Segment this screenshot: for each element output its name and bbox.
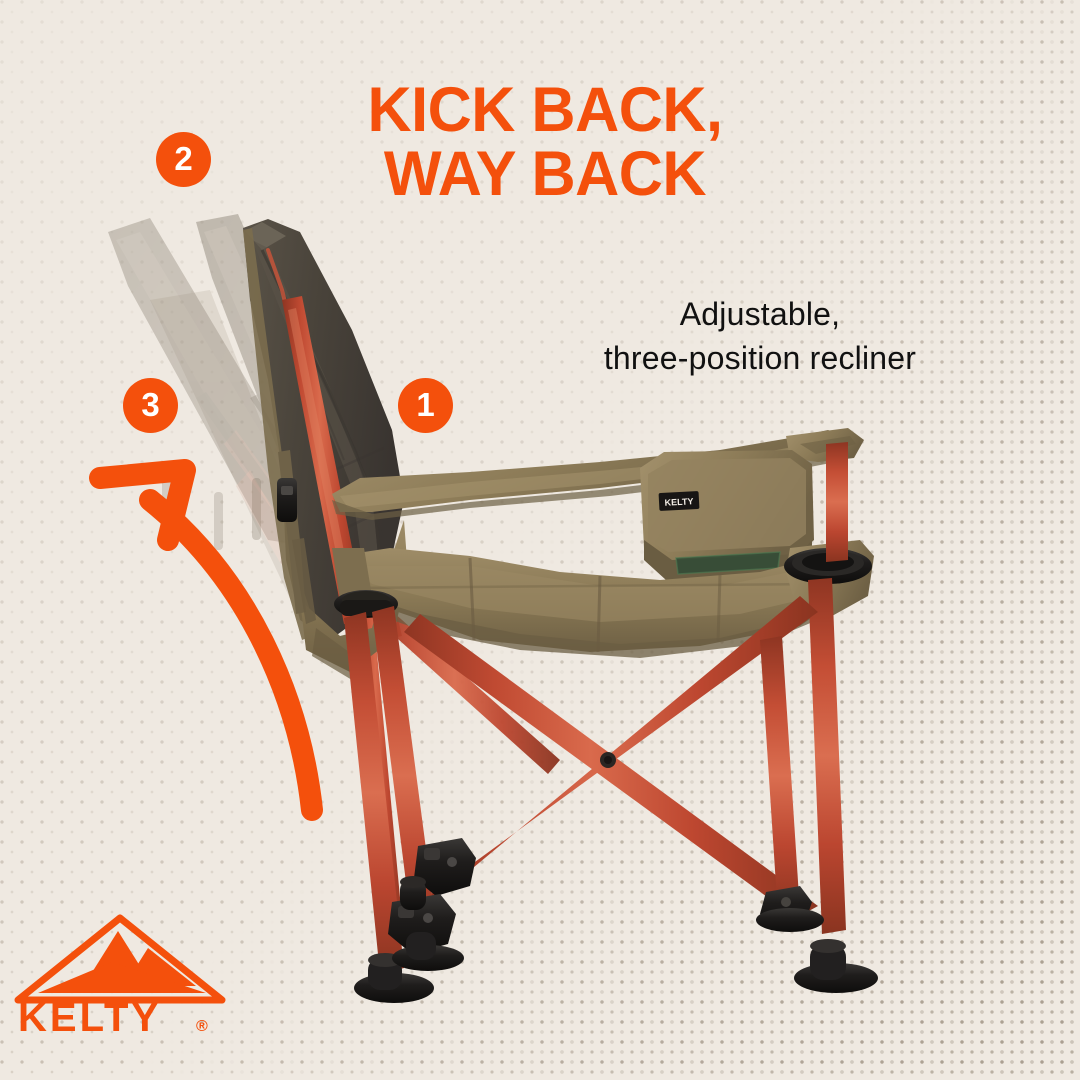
- kelty-registered-mark: ®: [196, 1018, 208, 1035]
- poster-canvas: KELTY: [0, 0, 1080, 1080]
- kelty-wordmark-text: KELTY: [18, 996, 161, 1040]
- kelty-triangle-icon: [18, 918, 222, 1000]
- kelty-logo: KELTY ®: [0, 0, 1080, 1080]
